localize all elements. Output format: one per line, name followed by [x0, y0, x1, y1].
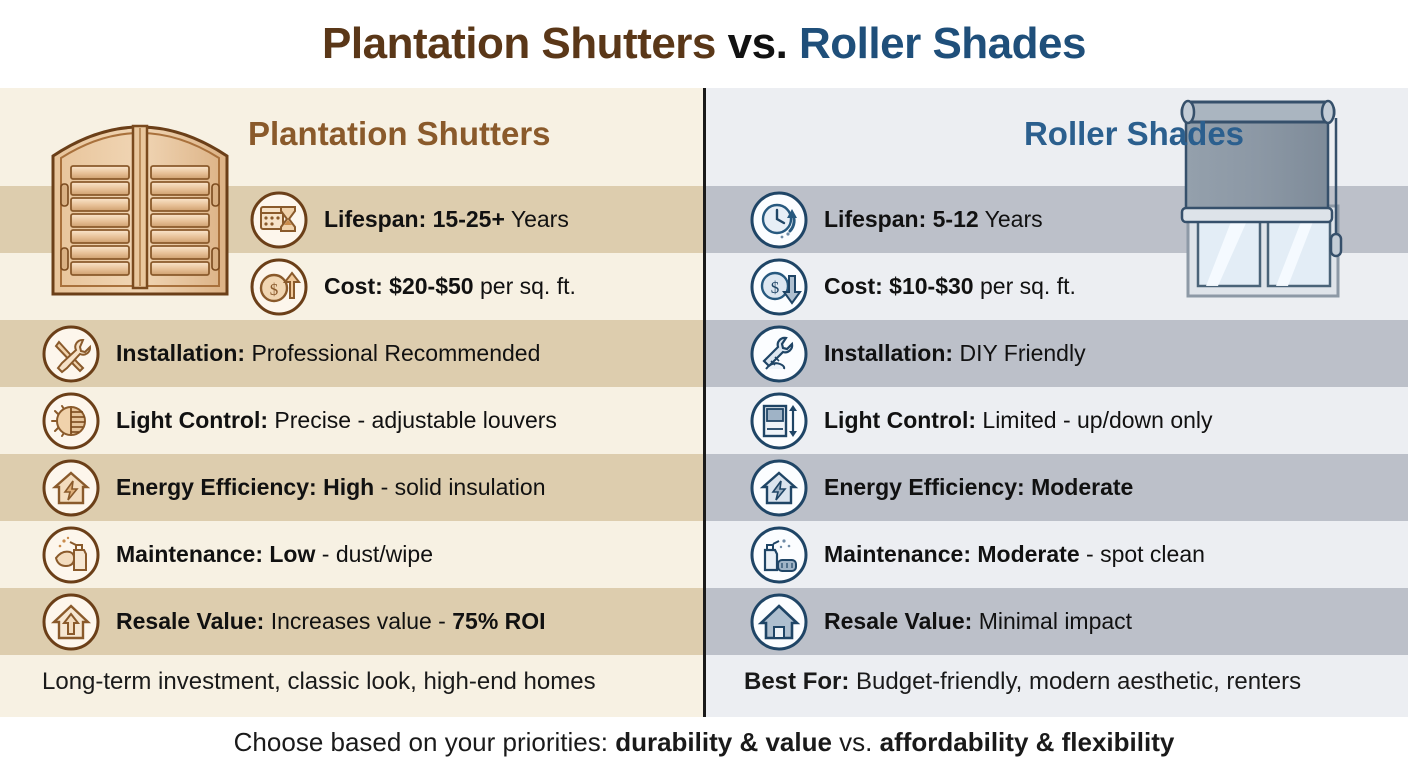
- row-resale-value: Resale Value: Increases value - 75% ROI: [40, 588, 546, 655]
- row-value: Limited - up/down only: [976, 407, 1213, 433]
- footer-bar: Choose based on your priorities: durabil…: [0, 717, 1408, 768]
- row-value: Moderate: [1025, 474, 1134, 500]
- house-icon: [748, 591, 810, 653]
- row-text: Energy Efficiency: Moderate: [824, 475, 1133, 500]
- house-up-arrow-icon: [40, 591, 102, 653]
- spray-bottle-icon: [40, 524, 102, 586]
- row-label: Cost:: [824, 273, 883, 299]
- row-label: Installation:: [116, 340, 245, 366]
- row-label: Maintenance:: [824, 541, 971, 567]
- row-value: Precise - adjustable louvers: [268, 407, 557, 433]
- row-resale-value: Resale Value: Minimal impact: [748, 588, 1132, 655]
- comparison-columns: Plantation Shutters Lifespan: 15-25+ Yea…: [0, 88, 1408, 717]
- row-label: Cost:: [324, 273, 383, 299]
- svg-text:$: $: [771, 278, 780, 297]
- title-right-part: Roller Shades: [799, 19, 1086, 68]
- tools-icon: [40, 323, 102, 385]
- best-for-left: Long-term investment, classic look, high…: [42, 668, 596, 696]
- row-label: Energy Efficiency:: [824, 474, 1025, 500]
- row-label: Resale Value:: [824, 608, 972, 634]
- best-for-value: Long-term investment, classic look, high…: [42, 668, 596, 695]
- row-suffix: per sq. ft.: [974, 273, 1076, 299]
- row-light-control: Light Control: Precise - adjustable louv…: [40, 387, 557, 454]
- column-heading-left: Plantation Shutters: [248, 88, 551, 180]
- column-plantation-shutters: Plantation Shutters Lifespan: 15-25+ Yea…: [0, 88, 704, 717]
- row-suffix: - spot clean: [1080, 541, 1205, 567]
- sun-louvers-icon: [40, 390, 102, 452]
- row-light-control: Light Control: Limited - up/down only: [748, 387, 1213, 454]
- wrench-hand-icon: [748, 323, 810, 385]
- row-label: Lifespan:: [324, 206, 426, 232]
- svg-text:$: $: [270, 280, 279, 299]
- plantation-shutter-illustration: [45, 96, 235, 306]
- footer-middle: vs.: [832, 727, 880, 757]
- row-value: Increases value -: [264, 608, 452, 634]
- row-suffix: per sq. ft.: [474, 273, 576, 299]
- column-roller-shades: Roller Shades Lifespan: 5-12 Years: [704, 88, 1408, 717]
- row-label: Maintenance:: [116, 541, 263, 567]
- row-value: DIY Friendly: [953, 340, 1086, 366]
- title-left-part: Plantation Shutters: [322, 19, 716, 68]
- row-value: $10-$30: [889, 273, 973, 299]
- row-maintenance: Maintenance: Moderate - spot clean: [748, 521, 1205, 588]
- row-installation: Installation: Professional Recommended: [40, 320, 540, 387]
- row-value: Professional Recommended: [245, 340, 540, 366]
- row-text: Maintenance: Moderate - spot clean: [824, 542, 1205, 567]
- row-cost: $ Cost: $20-$50 per sq. ft.: [248, 253, 576, 320]
- row-value: 15-25+: [433, 206, 505, 232]
- row-label: Lifespan:: [824, 206, 926, 232]
- infographic-board: Plantation Shutters vs. Roller Shades .t…: [0, 0, 1408, 768]
- best-for-label: Best For:: [744, 668, 849, 695]
- row-value: Moderate: [977, 541, 1079, 567]
- footer-text: Choose based on your priorities: durabil…: [234, 727, 1175, 758]
- row-text: Light Control: Precise - adjustable louv…: [116, 408, 557, 433]
- row-value: Low: [269, 541, 315, 567]
- row-installation: Installation: DIY Friendly: [748, 320, 1086, 387]
- row-suffix: - dust/wipe: [315, 541, 433, 567]
- column-heading-right: Roller Shades: [904, 88, 1364, 180]
- dollar-down-arrow-icon: $: [748, 256, 810, 318]
- row-text: Energy Efficiency: High - solid insulati…: [116, 475, 546, 500]
- best-for-value: Budget-friendly, modern aesthetic, rente…: [849, 668, 1301, 695]
- row-suffix: Years: [979, 206, 1043, 232]
- row-maintenance: Maintenance: Low - dust/wipe: [40, 521, 433, 588]
- best-for-right: Best For: Budget-friendly, modern aesthe…: [744, 668, 1301, 696]
- row-label: Light Control:: [824, 407, 976, 433]
- row-text: Installation: Professional Recommended: [116, 341, 540, 366]
- dollar-up-arrow-icon: $: [248, 256, 310, 318]
- row-text: Resale Value: Increases value - 75% ROI: [116, 609, 546, 634]
- column-divider: [703, 88, 706, 717]
- column-title-text: Roller Shades: [1024, 115, 1244, 153]
- row-suffix: Years: [505, 206, 569, 232]
- row-value: High: [323, 474, 374, 500]
- column-title-text: Plantation Shutters: [248, 115, 551, 153]
- house-bolt-icon: [40, 457, 102, 519]
- row-lifespan: Lifespan: 5-12 Years: [748, 186, 1043, 253]
- row-text: Lifespan: 5-12 Years: [824, 207, 1043, 232]
- row-value: 5-12: [933, 206, 979, 232]
- spray-sponge-icon: [748, 524, 810, 586]
- row-text: Maintenance: Low - dust/wipe: [116, 542, 433, 567]
- row-energy-efficiency: Energy Efficiency: Moderate: [748, 454, 1133, 521]
- row-value: $20-$50: [389, 273, 473, 299]
- row-suffix: - solid insulation: [374, 474, 545, 500]
- row-text: Light Control: Limited - up/down only: [824, 408, 1213, 433]
- row-text: Lifespan: 15-25+ Years: [324, 207, 569, 232]
- shade-updown-icon: [748, 390, 810, 452]
- row-suffix: 75% ROI: [452, 608, 545, 634]
- row-lifespan: Lifespan: 15-25+ Years: [248, 186, 569, 253]
- title-bar: Plantation Shutters vs. Roller Shades: [0, 0, 1408, 88]
- title-vs: vs.: [716, 19, 799, 68]
- row-label: Energy Efficiency:: [116, 474, 317, 500]
- clock-icon: [748, 189, 810, 251]
- footer-bold-b: affordability & flexibility: [880, 727, 1175, 757]
- calendar-hourglass-icon: [248, 189, 310, 251]
- row-cost: $ Cost: $10-$30 per sq. ft.: [748, 253, 1076, 320]
- row-label: Light Control:: [116, 407, 268, 433]
- row-text: Cost: $20-$50 per sq. ft.: [324, 274, 576, 299]
- row-energy-efficiency: Energy Efficiency: High - solid insulati…: [40, 454, 546, 521]
- footer-prefix: Choose based on your priorities:: [234, 727, 616, 757]
- footer-bold-a: durability & value: [615, 727, 832, 757]
- row-label: Installation:: [824, 340, 953, 366]
- row-value: Minimal impact: [972, 608, 1132, 634]
- row-text: Resale Value: Minimal impact: [824, 609, 1132, 634]
- page-title: Plantation Shutters vs. Roller Shades: [322, 19, 1086, 69]
- row-label: Resale Value:: [116, 608, 264, 634]
- row-text: Installation: DIY Friendly: [824, 341, 1086, 366]
- house-bolt-icon: [748, 457, 810, 519]
- row-text: Cost: $10-$30 per sq. ft.: [824, 274, 1076, 299]
